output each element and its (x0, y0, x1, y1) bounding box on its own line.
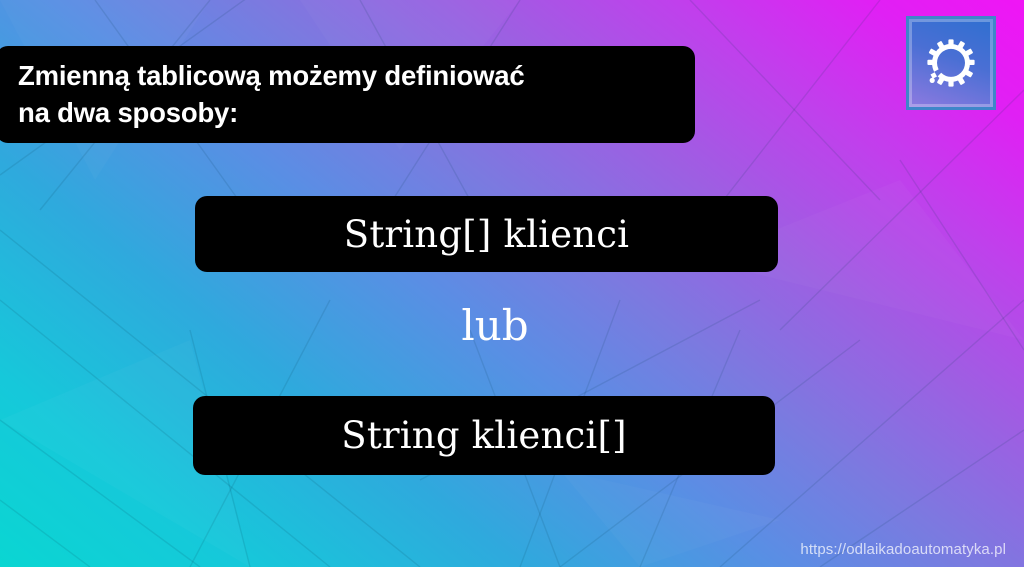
code-snippet-text-1: String[] klienci (344, 213, 629, 256)
heading-banner: Zmienną tablicową możemy definiować na d… (0, 46, 695, 143)
code-snippet-box-1: String[] klienci (195, 196, 778, 272)
footer-url[interactable]: https://odlaikadoautomatyka.pl (800, 541, 1006, 558)
code-snippet-text-2: String klienci[] (341, 414, 626, 457)
brand-logo (906, 16, 996, 110)
logo-frame (909, 19, 993, 107)
slide-canvas: Zmienną tablicową możemy definiować na d… (0, 0, 1024, 567)
separator-label: lub (0, 305, 990, 347)
page-title: Zmienną tablicową możemy definiować na d… (18, 58, 524, 131)
gear-icon (925, 37, 977, 89)
code-snippet-box-2: String klienci[] (193, 396, 775, 475)
